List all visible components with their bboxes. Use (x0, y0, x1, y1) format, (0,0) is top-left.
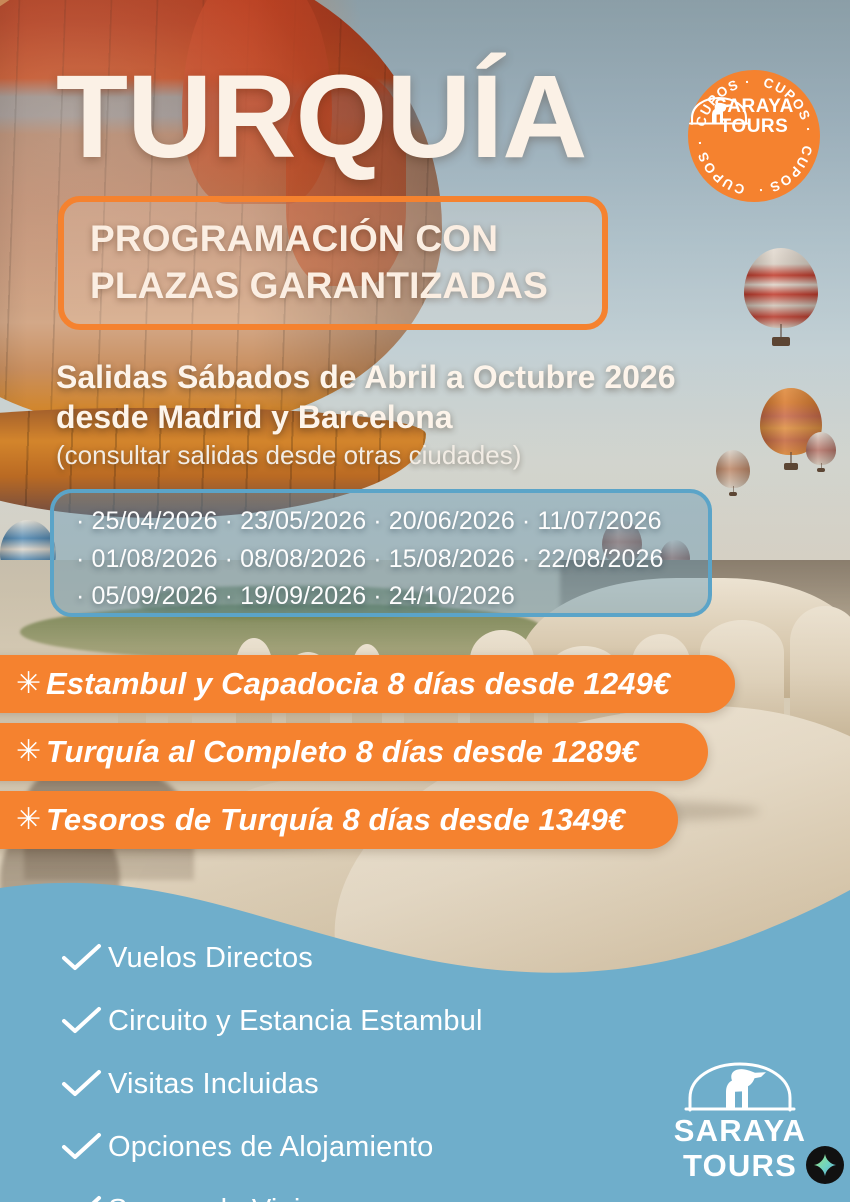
check-icon (60, 1006, 104, 1036)
travel-poster: TURQUÍA CUPOS · CUPOS · CUPOS · CUPOS · … (0, 0, 850, 1202)
ai-watermark (806, 1146, 844, 1184)
footer-brand-line1: SARAYA (660, 1114, 820, 1149)
departure-dates-panel: · 25/04/2026 · 23/05/2026 · 20/06/2026 ·… (50, 489, 712, 617)
includes-list: Vuelos Directos Circuito y Estancia Esta… (60, 936, 483, 1202)
check-icon (60, 1132, 104, 1162)
footer-brand-line2: TOURS (660, 1149, 820, 1184)
departures-block: Salidas Sábados de Abril a Octubre 2026 … (56, 358, 816, 473)
svg-text:CUPOS ·: CUPOS · (692, 138, 746, 197)
include-label: Circuito y Estancia Estambul (108, 1005, 483, 1038)
list-item: Vuelos Directos (60, 936, 483, 980)
camel-arch-icon (688, 96, 750, 126)
departures-line-1: Salidas Sábados de Abril a Octubre 2026 (56, 358, 816, 398)
offer-bar-estambul-capadocia[interactable]: ✳ Estambul y Capadocia 8 días desde 1249… (0, 655, 735, 713)
check-icon (60, 943, 104, 973)
ai-sparkle-icon (813, 1153, 837, 1177)
offer-label: Estambul y Capadocia 8 días desde 1249€ (46, 666, 670, 702)
dates-row: · 25/04/2026 · 23/05/2026 · 20/06/2026 ·… (76, 503, 686, 541)
offer-bar-turquia-completo[interactable]: ✳ Turquía al Completo 8 días desde 1289€ (0, 723, 708, 781)
list-item: Opciones de Alojamiento (60, 1125, 483, 1169)
list-item: Visitas Incluidas (60, 1062, 483, 1106)
guaranteed-seats-box: PROGRAMACIÓN CON PLAZAS GARANTIZADAS (58, 196, 608, 330)
departures-note: (consultar salidas desde otras ciudades) (56, 439, 816, 473)
subtitle-line-2: PLAZAS GARANTIZADAS (90, 263, 576, 310)
include-label: Seguro de Viaje (108, 1194, 317, 1202)
list-item: Circuito y Estancia Estambul (60, 999, 483, 1043)
departures-line-2: desde Madrid y Barcelona (56, 398, 816, 438)
check-icon (60, 1195, 104, 1202)
sparkle-icon: ✳ (16, 669, 41, 699)
svg-text:CUPOS ·: CUPOS · (756, 144, 815, 198)
list-item: Seguro de Viaje (60, 1188, 483, 1202)
offer-label: Tesoros de Turquía 8 días desde 1349€ (46, 802, 625, 838)
dates-row: · 05/09/2026 · 19/09/2026 · 24/10/2026 (76, 578, 686, 616)
offer-bar-tesoros-turquia[interactable]: ✳ Tesoros de Turquía 8 días desde 1349€ (0, 791, 678, 849)
offer-label: Turquía al Completo 8 días desde 1289€ (46, 734, 638, 770)
page-title: TURQUÍA (56, 58, 587, 176)
sparkle-icon: ✳ (16, 805, 41, 835)
camel-arch-icon (684, 1058, 796, 1114)
include-label: Opciones de Alojamiento (108, 1131, 433, 1164)
footer-logo: SARAYA TOURS (660, 1058, 820, 1183)
dates-row: · 01/08/2026 · 08/08/2026 · 15/08/2026 ·… (76, 541, 686, 579)
include-label: Vuelos Directos (108, 942, 313, 975)
include-label: Visitas Incluidas (108, 1068, 319, 1101)
sparkle-icon: ✳ (16, 737, 41, 767)
check-icon (60, 1069, 104, 1099)
cupos-badge: CUPOS · CUPOS · CUPOS · CUPOS · SARAYA T… (688, 70, 820, 202)
subtitle-line-1: PROGRAMACIÓN CON (90, 216, 576, 263)
